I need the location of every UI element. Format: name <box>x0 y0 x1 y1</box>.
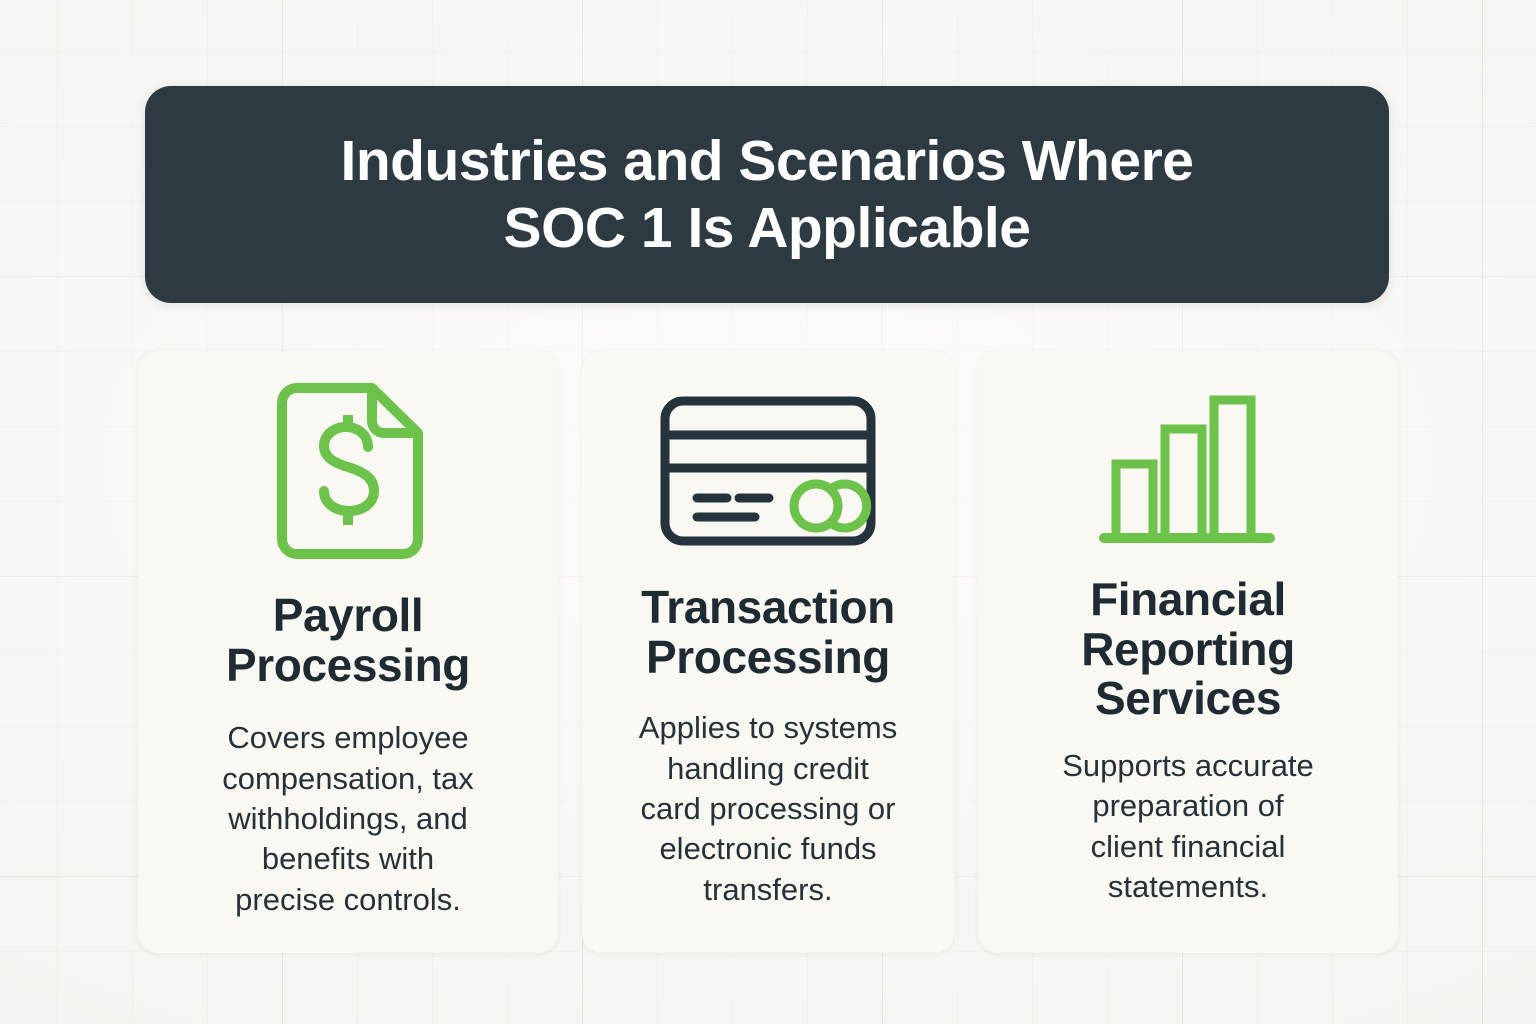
document-dollar-icon <box>268 381 428 561</box>
card-description: Applies to systems handling credit card … <box>639 708 897 909</box>
card-financial-reporting-services[interactable]: Financial Reporting Services Supports ac… <box>978 351 1398 953</box>
card-title: Transaction Processing <box>641 583 895 682</box>
card-description: Covers employee compensation, tax withho… <box>222 718 474 919</box>
card-title: Financial Reporting Services <box>1081 575 1295 724</box>
card-description: Supports accurate preparation of client … <box>1062 746 1314 907</box>
bar-chart-icon <box>1098 381 1278 561</box>
card-transaction-processing[interactable]: Transaction Processing Applies to system… <box>582 351 954 953</box>
page-title: Industries and Scenarios Where SOC 1 Is … <box>301 128 1234 260</box>
card-title: Payroll Processing <box>226 591 470 690</box>
card-payroll-processing[interactable]: Payroll Processing Covers employee compe… <box>138 351 558 953</box>
credit-card-icon <box>659 381 877 561</box>
infographic-stage: Industries and Scenarios Where SOC 1 Is … <box>0 0 1536 1024</box>
header-banner: Industries and Scenarios Where SOC 1 Is … <box>145 86 1389 303</box>
cards-row: Payroll Processing Covers employee compe… <box>138 351 1398 953</box>
